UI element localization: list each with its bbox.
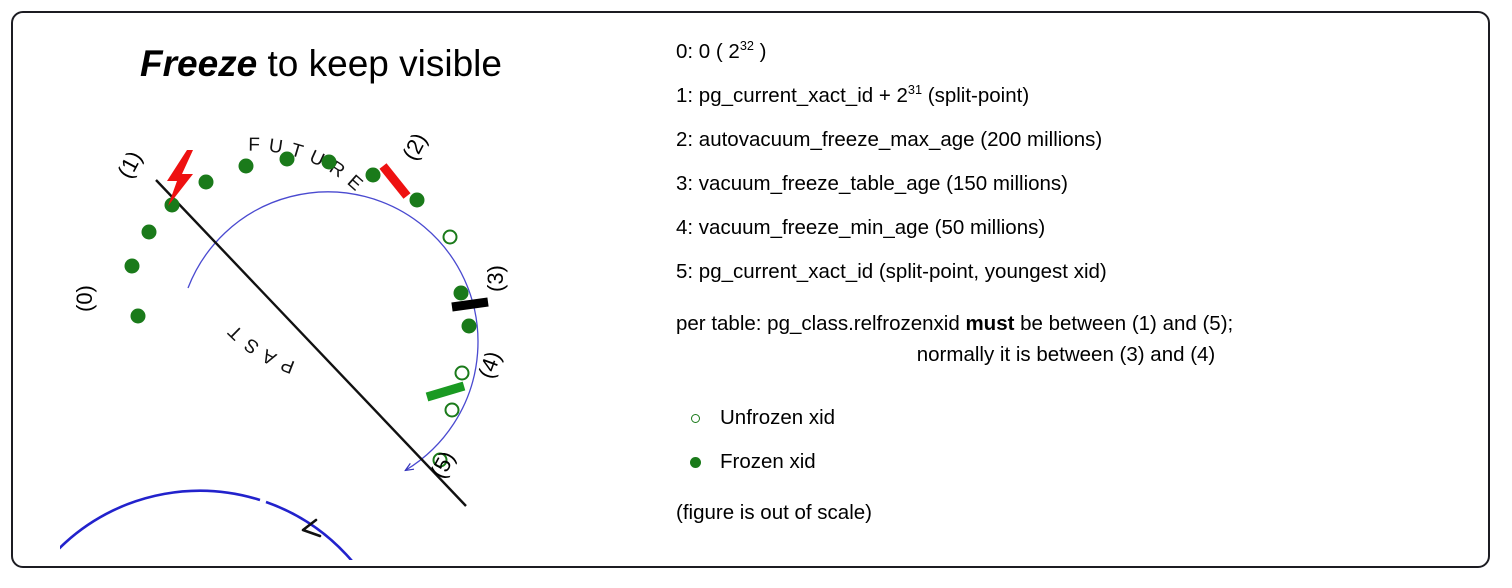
- frozen-xid-dot: [462, 319, 477, 334]
- frozen-xid-dot: [199, 175, 214, 190]
- legend-line-1-text: 1: pg_current_xact_id + 2: [676, 84, 908, 107]
- legend-line-0: 0: 0 ( 232 ): [676, 30, 1466, 74]
- legend-label-frozen: Frozen xid: [714, 450, 816, 474]
- legend-line-0-tail: ): [754, 40, 767, 63]
- unfrozen-xid-icon-shape: [691, 414, 700, 423]
- legend-line-5: 5: pg_current_xact_id (split-point, youn…: [676, 250, 1466, 294]
- circle-label-2: (2): [397, 129, 432, 164]
- future-label: F U T U R E: [248, 135, 367, 197]
- legend-line-4: 4: vacuum_freeze_min_age (50 millions): [676, 206, 1466, 250]
- frozen-xid-dot: [410, 193, 425, 208]
- legend-line-0-sup: 32: [740, 38, 754, 53]
- per-table-note: per table: pg_class.relfrozenxid must be…: [676, 308, 1466, 370]
- unfrozen-xid-dot: [444, 231, 457, 244]
- symbol-legend: Unfrozen xid Frozen xid: [676, 396, 1466, 484]
- legend-item-unfrozen: Unfrozen xid: [676, 396, 1466, 440]
- legend-line-0-text: 0: 0 ( 2: [676, 40, 740, 63]
- page-title: Freeze to keep visible: [140, 42, 600, 86]
- future-label-text: F U T U R E: [248, 135, 367, 197]
- per-table-pre: per table: pg_class.relfrozenxid: [676, 312, 965, 335]
- frozen-xid-dot: [454, 286, 469, 301]
- circle-label-1: (1): [112, 147, 147, 182]
- legend-label-unfrozen: Unfrozen xid: [714, 406, 835, 430]
- marker-3-tick: [452, 302, 488, 307]
- frozen-xid-dot: [239, 159, 254, 174]
- per-table-post: be between (1) and (5);: [1014, 312, 1233, 335]
- outer-circle-path: [60, 491, 400, 560]
- past-label: P A S T: [223, 319, 297, 377]
- freeze-diagram-figure: Freeze to keep visible: [0, 0, 1512, 588]
- title-emphasis: Freeze: [140, 43, 257, 84]
- marker-4-tick: [427, 386, 464, 397]
- split-point-line: [156, 180, 466, 506]
- legend-line-1-tail: (split-point): [922, 84, 1029, 107]
- xid-wraparound-diagram: P A S T F U T U R E: [60, 120, 620, 560]
- frozen-xid-dot: [322, 155, 337, 170]
- unfrozen-xid-dot: [456, 367, 469, 380]
- legend-line-1-sup: 31: [908, 82, 922, 97]
- outer-xid-circle: [60, 491, 400, 560]
- circle-label-0: (0): [72, 285, 97, 312]
- explanation-panel: 0: 0 ( 232 ) 1: pg_current_xact_id + 231…: [676, 30, 1466, 528]
- frozen-xid-dot: [142, 225, 157, 240]
- per-table-line-1: per table: pg_class.relfrozenxid must be…: [676, 308, 1466, 339]
- frozen-xid-dot: [131, 309, 146, 324]
- footnote: (figure is out of scale): [676, 498, 1466, 528]
- frozen-xid-dot: [366, 168, 381, 183]
- unfrozen-xid-dots: [434, 231, 469, 467]
- circle-label-3: (3): [483, 265, 508, 292]
- legend-line-3: 3: vacuum_freeze_table_age (150 millions…: [676, 162, 1466, 206]
- per-table-line-2: normally it is between (3) and (4): [676, 339, 1466, 370]
- past-label-text: P A S T: [223, 319, 297, 377]
- frozen-xid-icon-shape: [690, 457, 701, 468]
- frozen-xid-icon: [676, 457, 714, 468]
- unfrozen-xid-icon: [676, 414, 714, 423]
- per-table-bold: must: [965, 312, 1014, 335]
- legend-line-2: 2: autovacuum_freeze_max_age (200 millio…: [676, 118, 1466, 162]
- circle-number-labels: (0) (1) (2) (3) (4) (5): [72, 129, 508, 482]
- legend-line-1: 1: pg_current_xact_id + 231 (split-point…: [676, 74, 1466, 118]
- unfrozen-xid-dot: [446, 404, 459, 417]
- frozen-xid-dot: [125, 259, 140, 274]
- title-rest: to keep visible: [257, 43, 502, 84]
- frozen-xid-dot: [280, 152, 295, 167]
- legend-item-frozen: Frozen xid: [676, 440, 1466, 484]
- marker-2-tick: [383, 166, 407, 196]
